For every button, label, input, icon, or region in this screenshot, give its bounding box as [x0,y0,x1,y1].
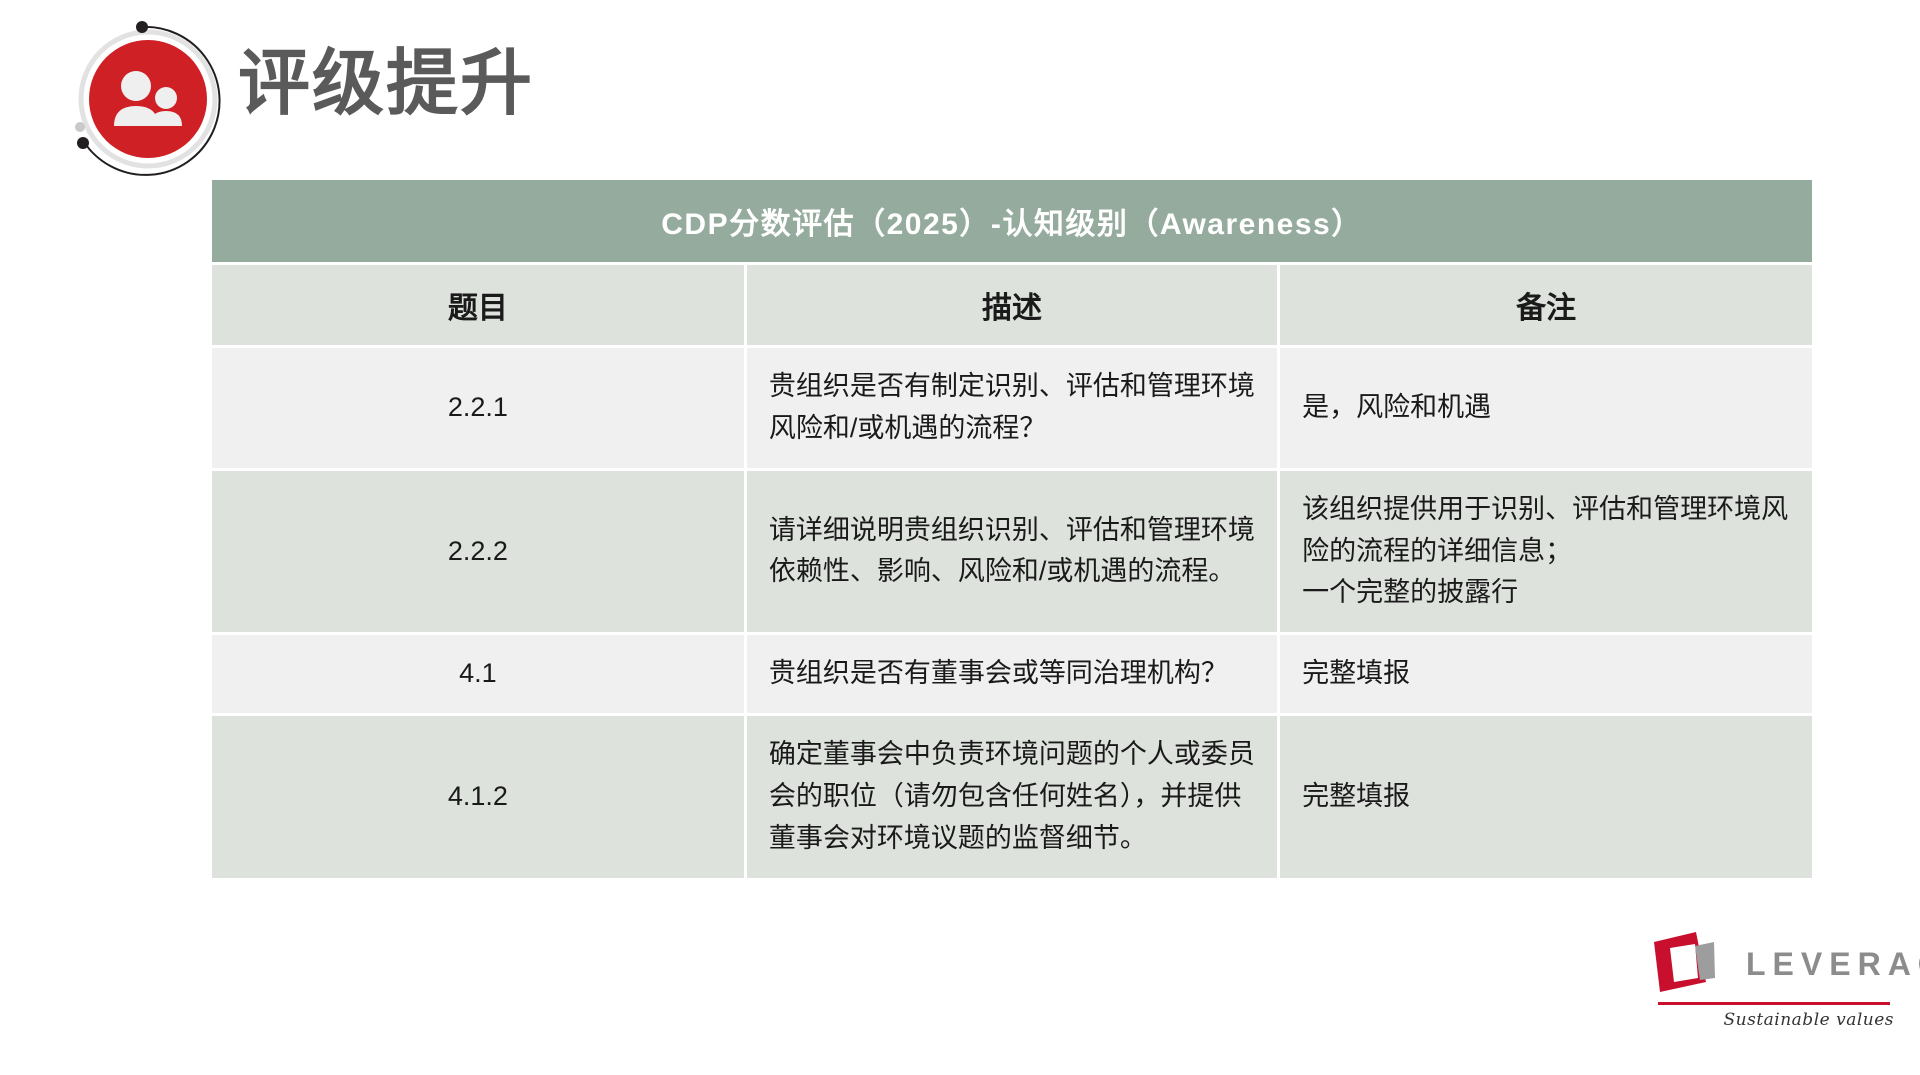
table-row: 4.1.2 确定董事会中负责环境问题的个人或委员会的职位（请勿包含任何姓名），并… [212,715,1812,880]
cell-description: 贵组织是否有董事会或等同治理机构？ [745,634,1278,715]
cell-question-id: 4.1 [212,634,745,715]
logo-divider [1658,1002,1890,1005]
people-group-icon [60,14,240,184]
table-header-row: 题目 描述 备注 [212,264,1812,347]
cell-question-id: 4.1.2 [212,715,745,880]
cell-remark: 完整填报 [1279,634,1812,715]
table-row: 2.2.1 贵组织是否有制定识别、评估和管理环境风险和/或机遇的流程？ 是，风险… [212,347,1812,470]
leverage-wordmark: LEVERAGE [1746,948,1920,980]
cell-remark: 该组织提供用于识别、评估和管理环境风险的流程的详细信息； 一个完整的披露行 [1279,469,1812,634]
leverage-mark-icon [1648,930,1734,996]
logo-tagline: Sustainable values [1648,1010,1894,1030]
column-header-question: 题目 [212,264,745,347]
table-row: 4.1 贵组织是否有董事会或等同治理机构？ 完整填报 [212,634,1812,715]
cell-remark: 完整填报 [1279,715,1812,880]
slide-header: 评级提升 [0,0,1920,180]
cell-description: 请详细说明贵组织识别、评估和管理环境依赖性、影响、风险和/或机遇的流程。 [745,469,1278,634]
page-title: 评级提升 [238,48,534,120]
cell-description: 确定董事会中负责环境问题的个人或委员会的职位（请勿包含任何姓名），并提供董事会对… [745,715,1278,880]
cell-question-id: 2.2.1 [212,347,745,470]
table-row: 2.2.2 请详细说明贵组织识别、评估和管理环境依赖性、影响、风险和/或机遇的流… [212,469,1812,634]
cdp-score-table: CDP分数评估（2025）-认知级别（Awareness） 题目 描述 备注 2… [212,180,1812,881]
leverage-logo: LEVERAGE Sustainable values [1648,930,1898,1040]
table-title: CDP分数评估（2025）-认知级别（Awareness） [212,180,1812,264]
column-header-remark: 备注 [1279,264,1812,347]
cell-remark: 是，风险和机遇 [1279,347,1812,470]
cell-question-id: 2.2.2 [212,469,745,634]
table-title-band: CDP分数评估（2025）-认知级别（Awareness） [212,180,1812,264]
cell-description: 贵组织是否有制定识别、评估和管理环境风险和/或机遇的流程？ [745,347,1278,470]
column-header-description: 描述 [745,264,1278,347]
slide: 评级提升 CDP分数评估（2025）-认知级别（Awareness） 题目 描述… [0,0,1920,1075]
